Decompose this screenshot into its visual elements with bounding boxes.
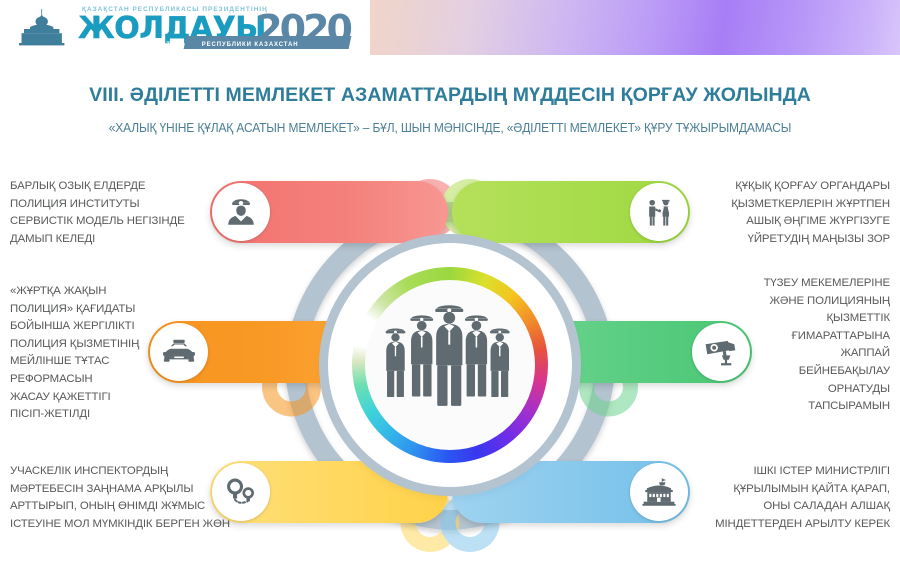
- text-block-left-1: БАРЛЫҚ ОЗЫҚ ЕЛДЕРДЕ ПОЛИЦИЯ ИНСТИТУТЫ СЕ…: [10, 178, 185, 248]
- police-officer-disc: [212, 183, 270, 241]
- zholdauy-2020-logo: ҚАЗАҚСТАН РЕСПУБЛИКАСЫ ПРЕЗИДЕНТІНІҢ ЖОЛ…: [78, 4, 350, 51]
- text-block-right-2: ТҮЗЕУ МЕКЕМЕЛЕРІНЕ ЖӘНЕ ПОЛИЦИЯНЫҢ ҚЫЗМЕ…: [764, 275, 890, 416]
- central-wheel-diagram: [190, 165, 710, 565]
- cctv-camera-icon: [703, 337, 739, 367]
- police-car-disc: [150, 323, 208, 381]
- officer-citizen-disc: [630, 183, 688, 241]
- handcuffs-icon: [224, 477, 258, 508]
- text-block-right-3: ІШКІ ІСТЕР МИНИСТРЛІГІ ҚҰРЫЛЫМЫН ҚАЙТА Қ…: [715, 463, 890, 533]
- text-block-left-2: «ЖҰРТҚА ЖАҚЫН ПОЛИЦИЯ» ҚАҒИДАТЫ БОЙЫНША …: [10, 283, 139, 424]
- infographic-page: ҚАЗАҚСТАН РЕСПУБЛИКАСЫ ПРЕЗИДЕНТІНІҢ ЖОЛ…: [0, 0, 900, 571]
- pill-police-officer[interactable]: [210, 181, 448, 243]
- police-team-icon: [369, 284, 531, 446]
- page-subtitle: «ХАЛЫҚ ҮНІНЕ ҚҰЛАҚ АСАТЫН МЕМЛЕКЕТ» – БҰ…: [18, 121, 882, 135]
- core-police-team: [352, 267, 548, 463]
- page-title: VIII. ӘДІЛЕТТІ МЕМЛЕКЕТ АЗАМАТТАРДЫҢ МҮД…: [0, 84, 900, 107]
- logo-bottom-line: ПОСЛАНИЕ ПРЕЗИДЕНТАРЕСПУБЛИКИ КАЗАХСТАН: [82, 42, 354, 48]
- text-block-right-1: ҚҰҚЫҚ ҚОРҒАУ ОРГАНДАРЫ ҚЫЗМЕТКЕРЛЕРІН ЖҰ…: [731, 178, 890, 248]
- police-officer-icon: [224, 195, 258, 229]
- officer-citizen-icon: [642, 195, 676, 229]
- government-building-icon: [642, 477, 676, 507]
- handcuffs-disc: [212, 463, 270, 521]
- cctv-camera-disc: [692, 323, 750, 381]
- akorda-building-icon: [14, 8, 70, 48]
- police-car-icon: [161, 337, 197, 367]
- ministry-building-disc: [630, 463, 688, 521]
- pill-officer-citizen-dialogue[interactable]: [452, 181, 690, 243]
